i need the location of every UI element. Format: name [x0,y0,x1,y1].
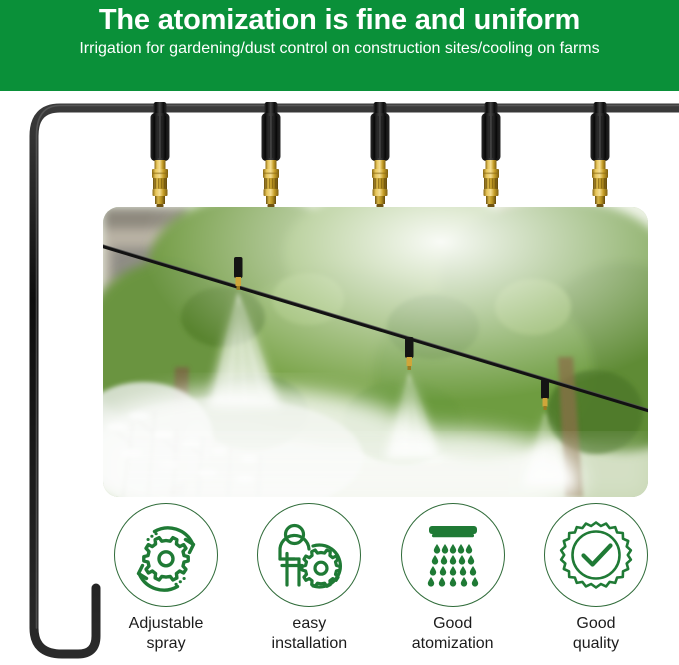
banner-title: The atomization is fine and uniform [0,2,679,38]
person-gear-icon [269,515,349,595]
feature-badge [257,503,361,607]
badge-check-icon [556,515,636,595]
misting-nozzle [262,102,281,208]
misting-nozzle [482,102,501,208]
header-banner: The atomization is fine and uniform Irri… [0,0,679,91]
nozzle-group [151,102,610,208]
feature-good-atomization: Good atomization [383,503,523,654]
droplet-grid [427,544,477,587]
feature-label: Good atomization [412,614,494,654]
feature-easy-installation: easy installation [239,503,379,654]
feature-badge [401,503,505,607]
feature-good-quality: Good quality [526,503,666,654]
feature-label: Good quality [573,614,619,654]
feature-label: Adjustable spray [129,614,204,654]
feature-list: Adjustable spray [96,503,666,665]
feature-adjustable-spray: Adjustable spray [96,503,236,654]
feature-badge [544,503,648,607]
shower-head-icon [413,515,493,595]
gear-rotation-icon [126,515,206,595]
misting-nozzle [371,102,390,208]
misting-nozzle [151,102,170,208]
banner-subtitle: Irrigation for gardening/dust control on… [0,38,679,59]
garden-misting-photo [103,207,648,497]
feature-label: easy installation [272,614,348,654]
feature-badge [114,503,218,607]
misting-nozzle [591,102,610,208]
